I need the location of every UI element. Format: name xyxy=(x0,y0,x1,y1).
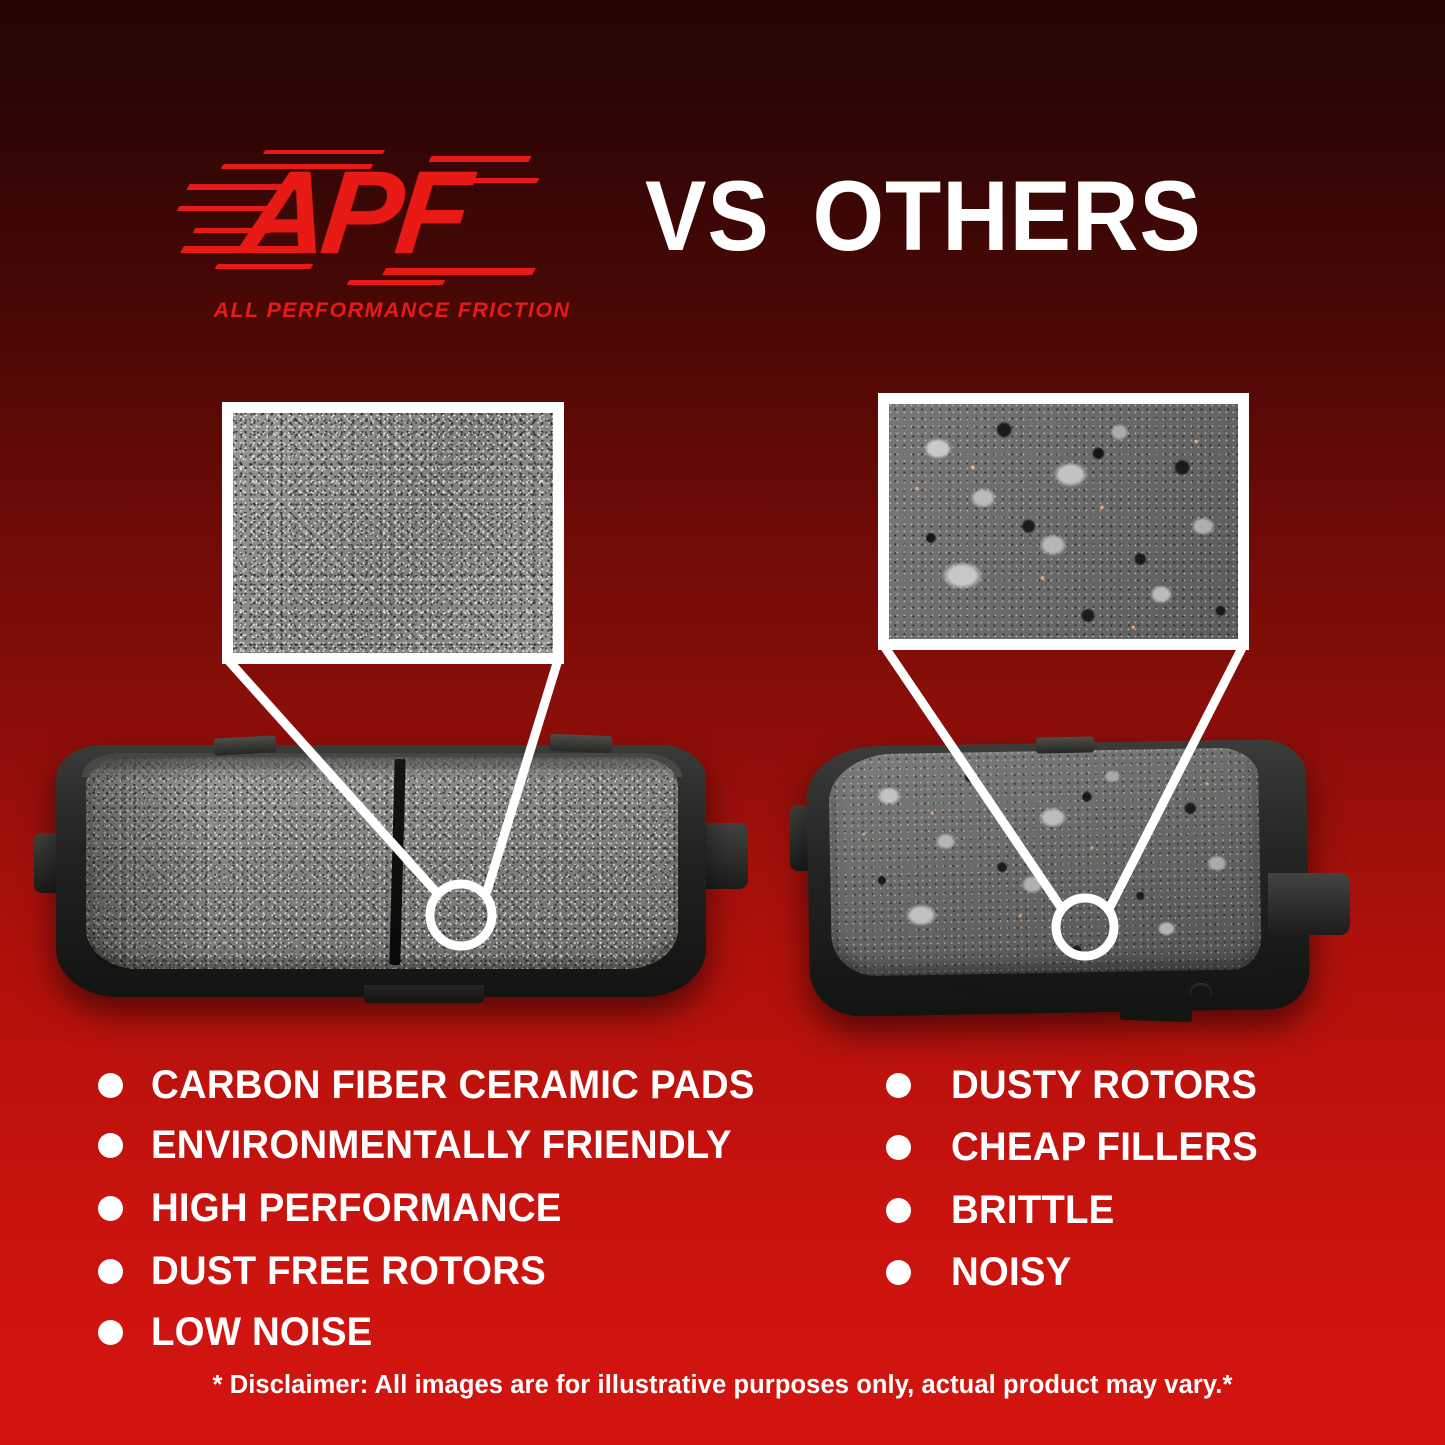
apf-feature-list: CARBON FIBER CERAMIC PADS ENVIRONMENTALL… xyxy=(98,1055,798,1362)
pad-edge-shading xyxy=(86,757,246,969)
list-item: DUSTY ROTORS xyxy=(886,1055,1346,1115)
bullet-dot-icon xyxy=(98,1196,123,1221)
feature-label: BRITTLE xyxy=(951,1188,1114,1233)
pad-shim-tab xyxy=(550,734,613,753)
feature-label: HIGH PERFORMANCE xyxy=(151,1186,562,1231)
list-item: DUST FREE ROTORS xyxy=(98,1241,798,1302)
pad-shim-tab xyxy=(214,735,277,755)
list-item: CHEAP FILLERS xyxy=(886,1115,1346,1179)
feature-label: DUST FREE ROTORS xyxy=(151,1249,546,1294)
pad-notch xyxy=(1120,1006,1192,1023)
pad-notch xyxy=(950,976,1008,992)
list-item: ENVIRONMENTALLY FRIENDLY xyxy=(98,1115,798,1175)
bullet-dot-icon xyxy=(98,1133,123,1158)
others-feature-list: DUSTY ROTORS CHEAP FILLERS BRITTLE NOISY xyxy=(886,1055,1346,1302)
bullet-dot-icon xyxy=(98,1320,123,1345)
feature-label: NOISY xyxy=(951,1250,1071,1295)
list-item: HIGH PERFORMANCE xyxy=(98,1175,798,1241)
bullet-dot-icon xyxy=(98,1259,123,1284)
feature-label: LOW NOISE xyxy=(151,1310,372,1355)
feature-label: CHEAP FILLERS xyxy=(951,1125,1258,1170)
others-brake-pad-image xyxy=(790,735,1350,1035)
bullet-dot-icon xyxy=(886,1260,911,1285)
apf-brake-pad-image xyxy=(34,735,734,1020)
pad-bottom-foot xyxy=(364,985,484,1003)
list-item: NOISY xyxy=(886,1242,1346,1302)
feature-label: CARBON FIBER CERAMIC PADS xyxy=(151,1063,755,1108)
list-item: BRITTLE xyxy=(886,1179,1346,1242)
bullet-dot-icon xyxy=(886,1073,911,1098)
feature-label: ENVIRONMENTALLY FRIENDLY xyxy=(151,1123,732,1168)
pad-shim-tab xyxy=(1036,736,1094,753)
list-item: CARBON FIBER CERAMIC PADS xyxy=(98,1055,798,1115)
list-item: LOW NOISE xyxy=(98,1302,798,1362)
pad-rivet xyxy=(1190,983,1212,1003)
bullet-dot-icon xyxy=(886,1135,911,1160)
pad-friction-surface xyxy=(828,747,1262,976)
comparison-poster: APF ALL PERFORMANCE FRICTION VSOTHERS xyxy=(0,0,1445,1445)
bullet-dot-icon xyxy=(886,1198,911,1223)
feature-label: DUSTY ROTORS xyxy=(951,1063,1257,1108)
pad-ear-right xyxy=(1268,873,1350,935)
disclaimer-text: * Disclaimer: All images are for illustr… xyxy=(0,1371,1445,1400)
bullet-dot-icon xyxy=(98,1073,123,1098)
